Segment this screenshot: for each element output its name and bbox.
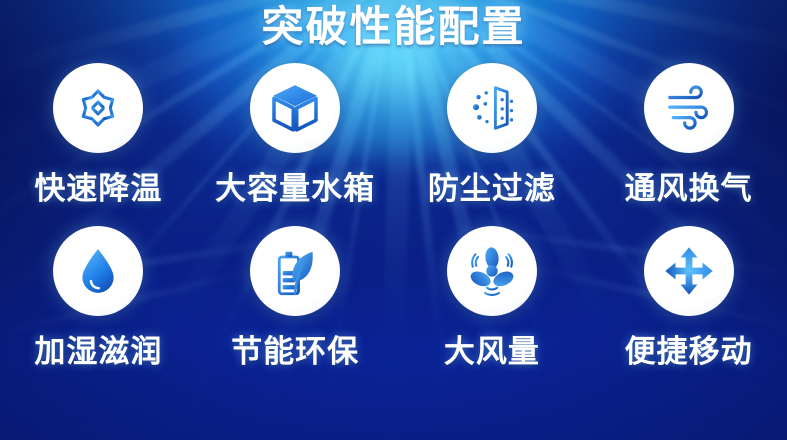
feature-item-easy-move[interactable]: 便捷移动 <box>590 226 787 371</box>
feature-item-high-airflow[interactable]: 大风量 <box>394 226 591 371</box>
feature-label: 加湿滋润 <box>34 326 162 371</box>
fan-blades-icon <box>464 243 520 299</box>
four-way-arrows-icon <box>662 244 716 298</box>
feature-item-energy-saving[interactable]: 节能环保 <box>197 226 394 371</box>
dust-filter-icon <box>465 81 519 135</box>
feature-item-dust-filter[interactable]: 防尘过滤 <box>394 63 591 208</box>
feature-item-large-water-tank[interactable]: 大容量水箱 <box>197 63 394 208</box>
feature-icon-circle <box>447 63 537 153</box>
feature-item-ventilation[interactable]: 通风换气 <box>590 63 787 208</box>
feature-label: 通风换气 <box>625 163 753 208</box>
feature-icon-circle <box>53 63 143 153</box>
feature-item-fast-cooling[interactable]: 快速降温 <box>0 63 197 208</box>
water-drop-icon <box>73 246 123 296</box>
battery-leaf-icon <box>267 243 323 299</box>
feature-icon-circle <box>447 226 537 316</box>
water-tank-box-icon <box>267 80 323 136</box>
feature-icon-circle <box>250 226 340 316</box>
wind-ventilation-icon <box>661 80 717 136</box>
feature-item-humidify[interactable]: 加湿滋润 <box>0 226 197 371</box>
feature-row-1: 快速降温 <box>0 63 787 208</box>
feature-grid: 快速降温 <box>0 63 787 371</box>
feature-icon-circle <box>250 63 340 153</box>
feature-label: 大容量水箱 <box>215 163 375 208</box>
feature-label: 大风量 <box>444 326 540 371</box>
feature-label: 节能环保 <box>231 326 359 371</box>
page-title: 突破性能配置 <box>261 6 525 49</box>
feature-label: 防尘过滤 <box>428 163 556 208</box>
feature-row-2: 加湿滋润 <box>0 226 787 371</box>
feature-label: 快速降温 <box>34 163 162 208</box>
feature-label: 便捷移动 <box>625 326 753 371</box>
feature-icon-circle <box>644 226 734 316</box>
banner-content: 突破性能配置 <box>0 0 787 440</box>
promo-banner: 突破性能配置 <box>0 0 787 440</box>
feature-icon-circle <box>644 63 734 153</box>
snowflake-icon <box>71 81 125 135</box>
feature-icon-circle <box>53 226 143 316</box>
